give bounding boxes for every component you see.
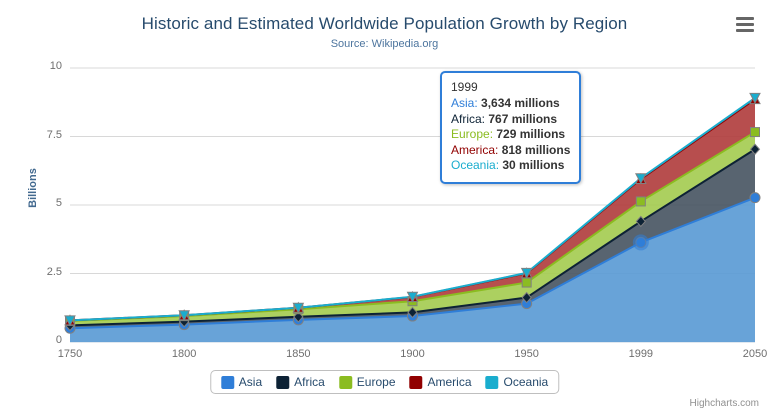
legend-swatch-icon <box>339 376 352 389</box>
tooltip-row: America: 818 millions <box>451 143 570 159</box>
tooltip-header: 1999 <box>451 80 570 94</box>
y-axis-tick-label: 2.5 <box>22 266 62 278</box>
data-point-marker[interactable] <box>522 278 531 287</box>
y-axis-tick-label: 10 <box>22 60 62 72</box>
data-point-marker[interactable] <box>750 193 760 203</box>
legend-item-europe[interactable]: Europe <box>339 375 396 389</box>
crosshair <box>633 234 649 250</box>
tooltip-series-value: 30 millions <box>502 158 564 172</box>
tooltip-row: Asia: 3,634 millions <box>451 96 570 112</box>
tooltip-rows: Asia: 3,634 millionsAfrica: 767 millions… <box>451 96 570 174</box>
x-axis-tick-label: 1900 <box>383 348 443 360</box>
x-axis-tick-label: 1800 <box>154 348 214 360</box>
tooltip-series-value: 3,634 millions <box>481 96 560 110</box>
legend-item-label: Europe <box>357 375 396 389</box>
tooltip-series-value: 818 millions <box>502 143 571 157</box>
tooltip-series-value: 767 millions <box>488 112 557 126</box>
data-point-marker[interactable] <box>751 128 760 137</box>
tooltip-row: Africa: 767 millions <box>451 112 570 128</box>
tooltip-series-name: Asia: <box>451 96 481 110</box>
tooltip-series-name: Oceania: <box>451 158 502 172</box>
legend-item-africa[interactable]: Africa <box>276 375 325 389</box>
legend[interactable]: AsiaAfricaEuropeAmericaOceania <box>210 370 559 394</box>
legend-item-asia[interactable]: Asia <box>221 375 262 389</box>
tooltip-row: Europe: 729 millions <box>451 127 570 143</box>
legend-item-oceania[interactable]: Oceania <box>486 375 549 389</box>
credits-link[interactable]: Highcharts.com <box>690 398 759 409</box>
data-point-marker[interactable] <box>636 197 645 206</box>
x-axis-tick-label: 1750 <box>40 348 100 360</box>
legend-item-label: America <box>428 375 472 389</box>
y-axis-tick-label: 0 <box>22 334 62 346</box>
y-axis-tick-label: 7.5 <box>22 129 62 141</box>
legend-item-label: Africa <box>294 375 325 389</box>
legend-item-label: Oceania <box>504 375 549 389</box>
x-axis-tick-label: 1999 <box>611 348 671 360</box>
legend-swatch-icon <box>276 376 289 389</box>
tooltip-series-name: Africa: <box>451 112 488 126</box>
tooltip: 1999 Asia: 3,634 millionsAfrica: 767 mil… <box>440 71 581 184</box>
legend-swatch-icon <box>486 376 499 389</box>
hovered-point-halo <box>633 234 649 250</box>
tooltip-series-value: 729 millions <box>496 127 565 141</box>
chart-container: Historic and Estimated Worldwide Populat… <box>0 0 769 416</box>
tooltip-series-name: America: <box>451 143 502 157</box>
x-axis-tick-label: 2050 <box>725 348 769 360</box>
y-axis-title: Billions <box>27 153 39 223</box>
tooltip-row: Oceania: 30 millions <box>451 158 570 174</box>
x-axis-tick-label: 1950 <box>497 348 557 360</box>
x-axis-tick-label: 1850 <box>268 348 328 360</box>
tooltip-series-name: Europe: <box>451 127 496 141</box>
legend-swatch-icon <box>410 376 423 389</box>
legend-item-label: Asia <box>239 375 262 389</box>
legend-swatch-icon <box>221 376 234 389</box>
legend-item-america[interactable]: America <box>410 375 472 389</box>
